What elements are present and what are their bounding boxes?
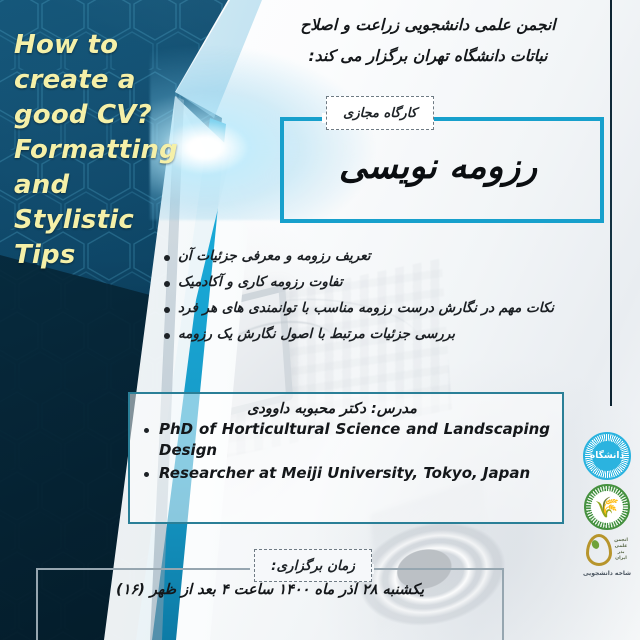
iran-seed-society-logo-icon: انجمنعلمیبذرایران (578, 534, 636, 566)
organizer-line-2: نباتات دانشگاه تهران برگزار می کند: (258, 41, 598, 72)
list-item: تعریف رزومه و معرفی جزئیات آن (164, 247, 604, 266)
title-line: good CV? (14, 98, 214, 133)
instructor-box: مدرس: دکتر محبوبه داوودی PhD of Horticul… (128, 392, 564, 524)
schedule-datetime: یکشنبه ۲۸ آذر ماه ۱۴۰۰ ساعت ۴ بعد از ظهر… (60, 582, 480, 598)
title-line: Formatting (14, 133, 214, 168)
ut-logo-glyph: دانشگاه (590, 452, 624, 461)
title-line: create a (14, 63, 214, 98)
bullet-icon (164, 333, 170, 339)
topic-text: بررسی جزئیات مرتبط با اصول نگارش یک رزوم… (178, 325, 455, 344)
poster: How to create a good CV? Formatting and … (0, 0, 640, 640)
list-item: تفاوت رزومه کاری و آکادمیک (164, 273, 604, 292)
list-item: PhD of Horticultural Science and Landsca… (130, 419, 562, 461)
topic-text: تعریف رزومه و معرفی جزئیات آن (178, 247, 371, 266)
bullet-icon (164, 307, 170, 313)
title-line: How to (14, 28, 214, 63)
university-of-tehran-logo-icon: دانشگاه (583, 432, 631, 480)
seed-society-label: انجمنعلمیبذرایران (614, 538, 628, 562)
virtual-workshop-badge-label: کارگاه مجازی (343, 106, 417, 121)
bullet-icon (164, 281, 170, 287)
agriculture-society-logo-icon: 🌾 (584, 484, 630, 530)
schedule-badge-label: زمان برگزاری: (271, 558, 355, 574)
topic-text: تفاوت رزومه کاری و آکادمیک (178, 273, 343, 292)
virtual-workshop-badge: کارگاه مجازی (326, 96, 434, 130)
bullet-icon (144, 428, 149, 433)
wheat-glyph: 🌾 (595, 497, 620, 517)
title-line: and (14, 168, 214, 203)
list-item: بررسی جزئیات مرتبط با اصول نگارش یک رزوم… (164, 325, 604, 344)
topic-text: نکات مهم در نگارش درست رزومه مناسب با تو… (178, 299, 554, 318)
instructor-credential: Researcher at Meiji University, Tokyo, J… (159, 463, 530, 484)
instructor-credential: PhD of Horticultural Science and Landsca… (159, 419, 550, 461)
list-item: نکات مهم در نگارش درست رزومه مناسب با تو… (164, 299, 604, 318)
list-item: Researcher at Meiji University, Tokyo, J… (130, 463, 562, 484)
seedling-icon (586, 534, 612, 566)
bullet-icon (164, 255, 170, 261)
bullet-icon (144, 472, 149, 477)
logo-caption: شاخه دانشجویی (583, 570, 631, 577)
title-line: Stylistic (14, 203, 214, 238)
right-vertical-rule (610, 0, 612, 406)
workshop-title: رزومه نویسی (280, 131, 596, 203)
organizer-header: انجمن علمی دانشجویی زراعت و اصلاح نباتات… (258, 10, 598, 72)
organizer-line-1: انجمن علمی دانشجویی زراعت و اصلاح (258, 10, 598, 41)
page-title: How to create a good CV? Formatting and … (14, 28, 214, 273)
schedule-badge: زمان برگزاری: (254, 549, 372, 582)
instructor-name: مدرس: دکتر محبوبه داوودی (130, 401, 534, 417)
logo-stack: دانشگاه 🌾 انجمنعلمیبذرایران شاخه دانشجوی… (576, 432, 638, 577)
topics-list: تعریف رزومه و معرفی جزئیات آن تفاوت رزوم… (164, 247, 604, 351)
